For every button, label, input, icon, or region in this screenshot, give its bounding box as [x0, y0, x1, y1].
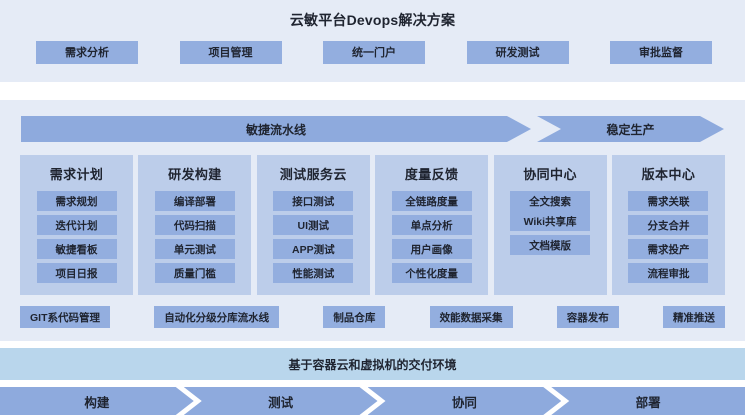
capability-columns: 需求计划 需求规划 迭代计划 敏捷看板 项目日报 研发构建 编译部署 代码扫描 … — [20, 155, 725, 295]
column-title: 测试服务云 — [257, 164, 370, 183]
column-requirement-plan: 需求计划 需求规划 迭代计划 敏捷看板 项目日报 — [20, 155, 133, 295]
column-title: 版本中心 — [612, 164, 725, 183]
phase-arrow-agile-pipeline: 敏捷流水线 — [21, 116, 531, 142]
column-item-list: 全文搜索 Wiki共享库 文档模版 — [494, 191, 607, 259]
column-item-list: 全链路度量 单点分析 用户画像 个性化度量 — [375, 191, 488, 287]
capability-automated-pipeline[interactable]: 自动化分级分库流水线 — [154, 306, 279, 328]
column-item[interactable]: 用户画像 — [392, 239, 472, 259]
column-item-list: 需求关联 分支合并 需求投产 流程审批 — [612, 191, 725, 287]
header-pill-row: 需求分析 项目管理 统一门户 研发测试 审批监督 — [36, 40, 712, 64]
capability-git-code-management[interactable]: GIT系代码管理 — [20, 306, 110, 328]
process-step-deploy[interactable]: 部署 — [551, 387, 745, 415]
phase-arrow-stable-production: 稳定生产 — [537, 116, 724, 142]
devops-solution-diagram: 云敏平台Devops解决方案 需求分析 项目管理 统一门户 研发测试 审批监督 … — [0, 0, 745, 415]
column-item[interactable]: 全链路度量 — [392, 191, 472, 211]
column-item[interactable]: 全文搜索 — [510, 191, 590, 211]
column-item[interactable]: 编译部署 — [155, 191, 235, 211]
column-item-list: 接口测试 UI测试 APP测试 性能测试 — [257, 191, 370, 287]
column-title: 需求计划 — [20, 164, 133, 183]
column-item[interactable]: 需求规划 — [37, 191, 117, 211]
capability-container-release[interactable]: 容器发布 — [557, 306, 619, 328]
column-item[interactable]: 代码扫描 — [155, 215, 235, 235]
column-item[interactable]: 分支合并 — [628, 215, 708, 235]
header-pill-dev-test[interactable]: 研发测试 — [467, 41, 569, 64]
capability-strip: GIT系代码管理 自动化分级分库流水线 制品仓库 效能数据采集 容器发布 精准推… — [20, 306, 725, 328]
column-item[interactable]: 需求关联 — [628, 191, 708, 211]
process-step-test[interactable]: 测试 — [184, 387, 378, 415]
column-item[interactable]: 单元测试 — [155, 239, 235, 259]
process-chevron-bar: 构建 测试 协同 部署 — [0, 387, 745, 415]
header-pill-approval-supervision[interactable]: 审批监督 — [610, 41, 712, 64]
column-dev-build: 研发构建 编译部署 代码扫描 单元测试 质量门槛 — [138, 155, 251, 295]
column-item[interactable]: 敏捷看板 — [37, 239, 117, 259]
column-item[interactable]: 迭代计划 — [37, 215, 117, 235]
column-item-list: 需求规划 迭代计划 敏捷看板 项目日报 — [20, 191, 133, 287]
column-item[interactable]: 个性化度量 — [392, 263, 472, 283]
column-item[interactable]: APP测试 — [273, 239, 353, 259]
column-item[interactable]: 质量门槛 — [155, 263, 235, 283]
header-band: 云敏平台Devops解决方案 需求分析 项目管理 统一门户 研发测试 审批监督 — [0, 0, 745, 82]
capability-efficiency-data-collection[interactable]: 效能数据采集 — [430, 306, 513, 328]
header-pill-requirement-analysis[interactable]: 需求分析 — [36, 41, 138, 64]
phase-arrow-row: 敏捷流水线 稳定生产 — [21, 116, 724, 142]
column-title: 协同中心 — [494, 164, 607, 183]
column-version-center: 版本中心 需求关联 分支合并 需求投产 流程审批 — [612, 155, 725, 295]
header-pill-unified-portal[interactable]: 统一门户 — [323, 41, 425, 64]
column-item[interactable]: UI测试 — [273, 215, 353, 235]
column-item-list: 编译部署 代码扫描 单元测试 质量门槛 — [138, 191, 251, 287]
page-title: 云敏平台Devops解决方案 — [0, 10, 745, 30]
process-step-collaborate[interactable]: 协同 — [368, 387, 562, 415]
header-pill-project-management[interactable]: 项目管理 — [180, 41, 282, 64]
column-item[interactable]: 性能测试 — [273, 263, 353, 283]
column-item[interactable]: 项目日报 — [37, 263, 117, 283]
column-item[interactable]: Wiki共享库 — [510, 211, 590, 231]
capability-artifact-repository[interactable]: 制品仓库 — [323, 306, 385, 328]
column-metric-feedback: 度量反馈 全链路度量 单点分析 用户画像 个性化度量 — [375, 155, 488, 295]
column-item[interactable]: 单点分析 — [392, 215, 472, 235]
column-item[interactable]: 流程审批 — [628, 263, 708, 283]
column-title: 研发构建 — [138, 164, 251, 183]
platform-band: 基于容器云和虚拟机的交付环境 — [0, 348, 745, 380]
column-title: 度量反馈 — [375, 164, 488, 183]
column-collaboration-center: 协同中心 全文搜索 Wiki共享库 文档模版 — [494, 155, 607, 295]
column-test-service-cloud: 测试服务云 接口测试 UI测试 APP测试 性能测试 — [257, 155, 370, 295]
column-item[interactable]: 文档模版 — [510, 235, 590, 255]
column-item[interactable]: 需求投产 — [628, 239, 708, 259]
column-item[interactable]: 接口测试 — [273, 191, 353, 211]
capability-precise-push[interactable]: 精准推送 — [663, 306, 725, 328]
process-step-build[interactable]: 构建 — [0, 387, 194, 415]
main-band: 敏捷流水线 稳定生产 需求计划 需求规划 迭代计划 敏捷看板 项目日报 研发构建… — [0, 100, 745, 341]
